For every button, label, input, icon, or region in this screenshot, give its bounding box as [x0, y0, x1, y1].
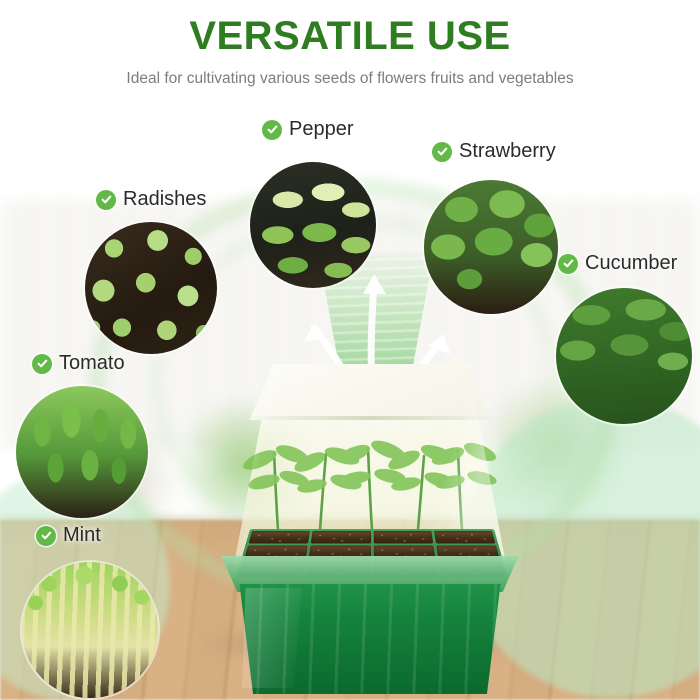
infographic-canvas: VERSATILE USE Ideal for cultivating vari… — [0, 0, 700, 700]
header: VERSATILE USE Ideal for cultivating vari… — [0, 0, 700, 88]
soil — [373, 531, 433, 543]
check-circle-icon — [32, 354, 52, 374]
photo-texture-mint — [22, 562, 158, 698]
feature-photo-radishes — [85, 222, 217, 354]
photo-texture-strawberry — [424, 180, 558, 314]
soil — [249, 531, 310, 543]
photo-texture-pepper — [250, 162, 376, 288]
page-subtitle: Ideal for cultivating various seeds of f… — [0, 56, 700, 88]
check-circle-icon — [432, 142, 452, 162]
feature-label-cucumber: Cucumber — [558, 252, 677, 275]
check-circle-icon — [262, 120, 282, 140]
feature-photo-pepper — [250, 162, 376, 288]
soil — [311, 531, 371, 543]
feature-label-pepper: Pepper — [262, 118, 354, 141]
feature-photo-strawberry — [424, 180, 558, 314]
feature-label-text: Strawberry — [459, 140, 556, 163]
feature-label-text: Cucumber — [585, 252, 677, 275]
feature-photo-mint — [22, 562, 158, 698]
seed-cell[interactable] — [434, 531, 495, 543]
check-circle-icon — [558, 254, 578, 274]
seed-cell[interactable] — [311, 531, 371, 543]
feature-label-strawberry: Strawberry — [432, 140, 556, 163]
check-circle-icon — [96, 190, 116, 210]
feature-label-radishes: Radishes — [96, 188, 206, 211]
page-title: VERSATILE USE — [0, 0, 700, 56]
dome-top-panel — [236, 364, 504, 420]
tray-highlight — [242, 588, 302, 688]
photo-texture-tomato — [16, 386, 148, 518]
feature-photo-tomato — [16, 386, 148, 518]
photo-texture-cucumber — [556, 288, 692, 424]
feature-label-mint: Mint — [36, 524, 101, 547]
feature-label-text: Pepper — [289, 118, 354, 141]
check-circle-icon — [36, 526, 56, 546]
feature-label-text: Tomato — [59, 352, 125, 375]
seedlings-inside-dome — [242, 420, 500, 530]
seed-cell[interactable] — [373, 531, 433, 543]
feature-label-text: Radishes — [123, 188, 206, 211]
feature-label-tomato: Tomato — [32, 352, 125, 375]
photo-texture-radishes — [85, 222, 217, 354]
soil — [434, 531, 495, 543]
seed-cell[interactable] — [249, 531, 310, 543]
product-seed-starting-tray — [190, 360, 550, 700]
feature-label-text: Mint — [63, 524, 101, 547]
feature-photo-cucumber — [556, 288, 692, 424]
